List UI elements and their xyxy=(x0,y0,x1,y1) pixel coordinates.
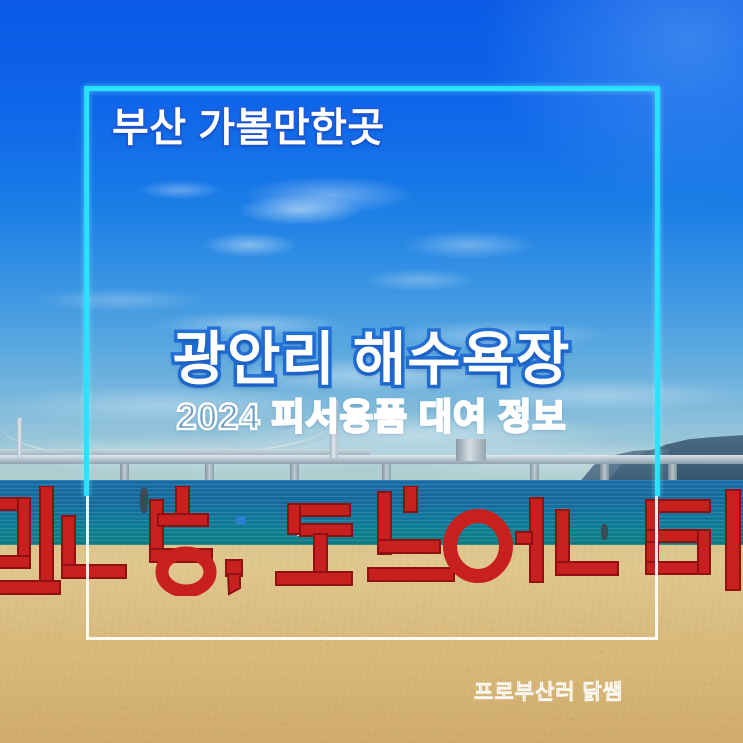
beach-person xyxy=(236,516,246,525)
page-title: 광안리 해수욕장 xyxy=(0,330,743,391)
kicker-text: 부산 가볼만한곳 xyxy=(112,103,385,153)
beach-person xyxy=(140,487,148,513)
watermark-text: 프로부산러 닭쌤 xyxy=(474,676,623,706)
beach-person xyxy=(601,524,608,540)
page-subtitle: 2024 피서용품 대여 정보 xyxy=(0,397,743,437)
beach-buoy-icon xyxy=(296,529,301,536)
sand-texture xyxy=(0,545,743,743)
title-block: 광안리 해수욕장 2024 피서용품 대여 정보 xyxy=(0,330,743,436)
bridge-tower-pylon xyxy=(456,439,486,461)
thumbnail-canvas: 부산 가볼만한곳 광안리 해수욕장 2024 피서용품 대여 정보 프로부산러 … xyxy=(0,0,743,743)
bridge-deck xyxy=(0,455,743,464)
